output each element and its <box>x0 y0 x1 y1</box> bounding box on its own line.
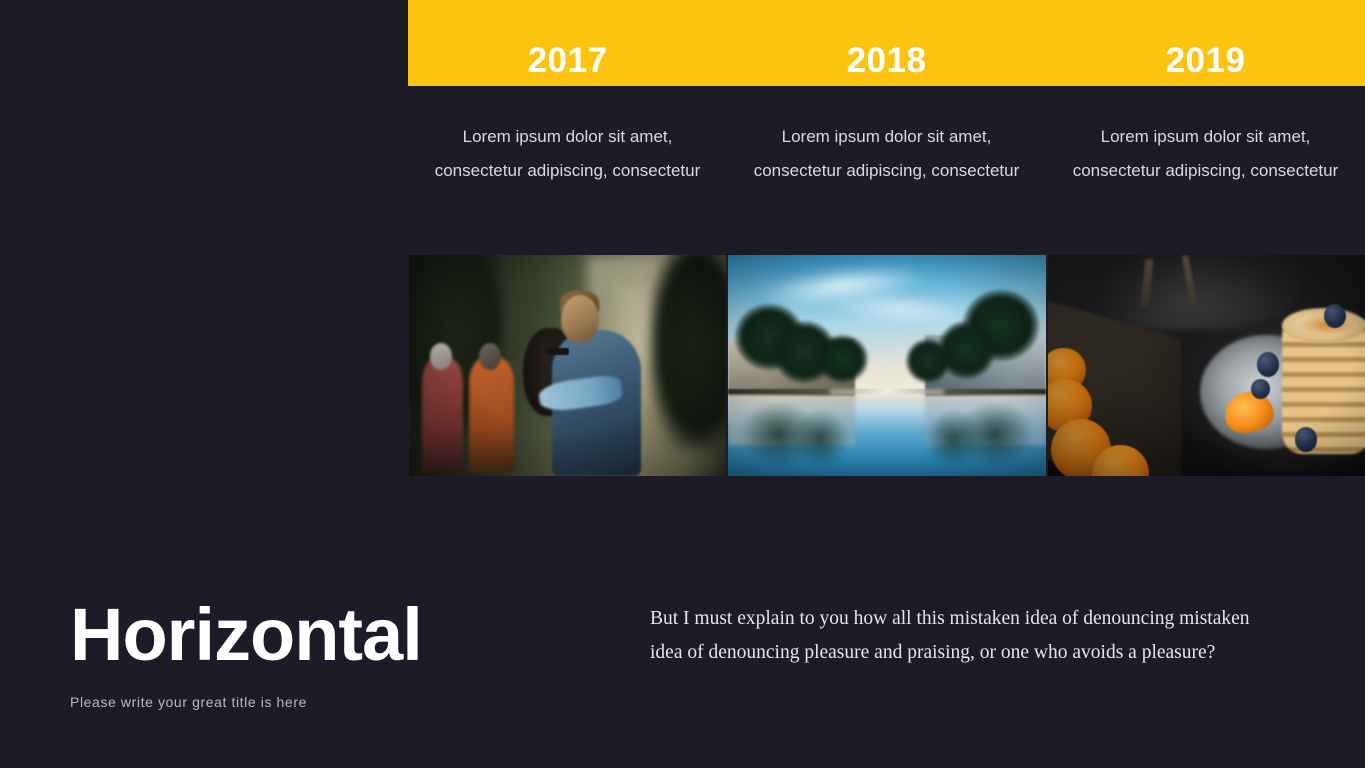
year-cell-2017: 2017 <box>408 0 727 86</box>
description-text-2019: Lorem ipsum dolor sit amet, consectetur … <box>1064 120 1347 188</box>
year-label-2018: 2018 <box>847 43 927 78</box>
photo-couple-embracing <box>409 255 726 476</box>
timeline-description-row: Lorem ipsum dolor sit amet, consectetur … <box>408 120 1365 188</box>
description-cell-2019: Lorem ipsum dolor sit amet, consectetur … <box>1046 120 1365 188</box>
page-title: Horizontal <box>70 596 590 674</box>
year-cell-2018: 2018 <box>727 0 1046 86</box>
timeline-photo-strip <box>409 255 1365 476</box>
timeline-year-bar: 2017 2018 2019 <box>408 0 1365 86</box>
description-cell-2018: Lorem ipsum dolor sit amet, consectetur … <box>727 120 1046 188</box>
photo-food-vignette <box>1048 255 1365 476</box>
description-cell-2017: Lorem ipsum dolor sit amet, consectetur … <box>408 120 727 188</box>
year-label-2017: 2017 <box>528 43 608 78</box>
description-text-2018: Lorem ipsum dolor sit amet, consectetur … <box>745 120 1028 188</box>
slide-body-block: But I must explain to you how all this m… <box>650 602 1270 670</box>
page-subtitle: Please write your great title is here <box>70 694 590 710</box>
photo-couple-vignette <box>409 255 726 476</box>
year-cell-2019: 2019 <box>1046 0 1365 86</box>
description-text-2017: Lorem ipsum dolor sit amet, consectetur … <box>426 120 709 188</box>
photo-oranges-pancakes <box>1048 255 1365 476</box>
photo-pool-vignette <box>728 255 1045 476</box>
photo-infinity-pool <box>728 255 1045 476</box>
year-label-2019: 2019 <box>1166 43 1246 78</box>
body-paragraph: But I must explain to you how all this m… <box>650 602 1270 670</box>
slide-title-block: Horizontal Please write your great title… <box>70 596 590 710</box>
